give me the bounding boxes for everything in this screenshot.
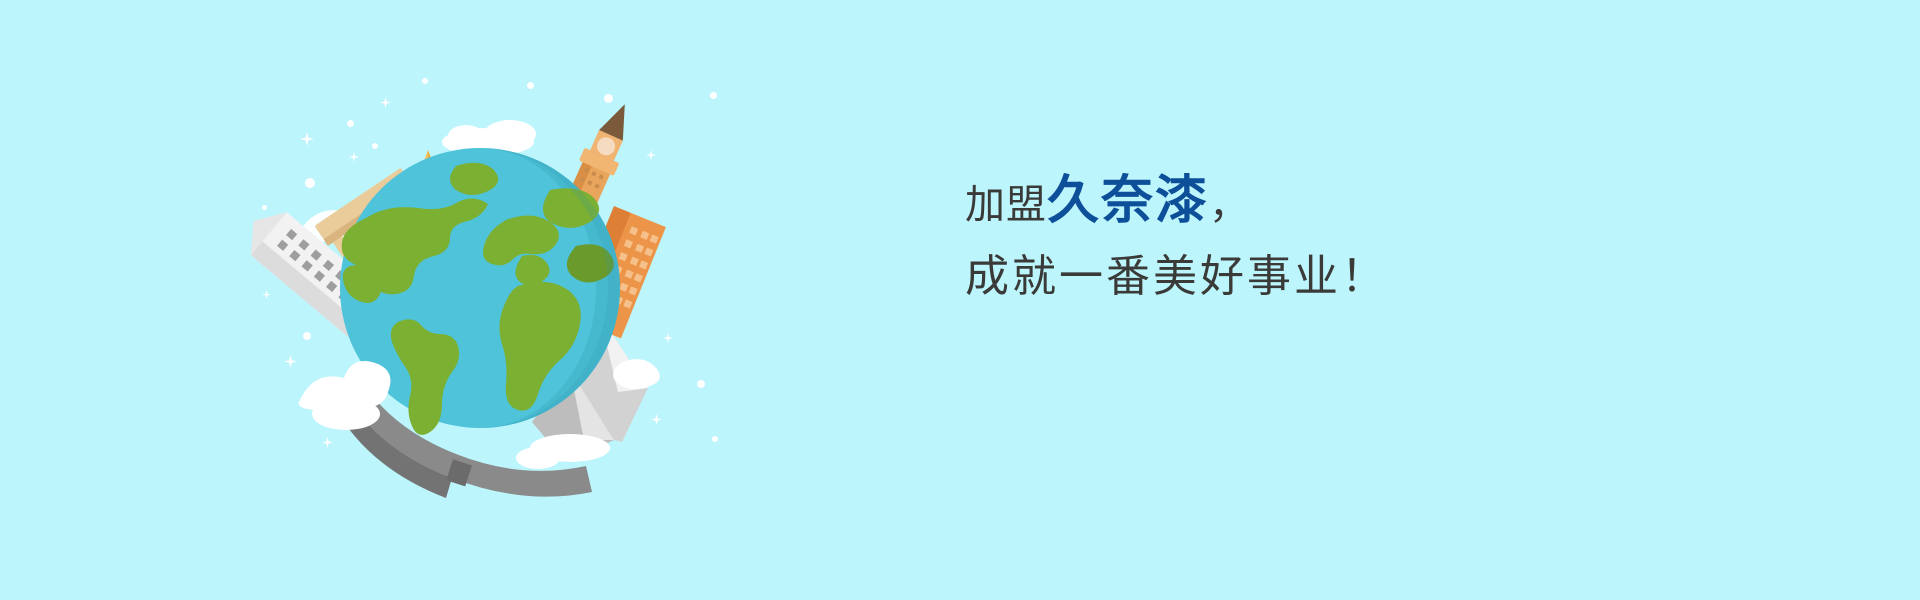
- headline-prefix: 加盟: [965, 182, 1047, 228]
- headline-block: 加盟久奈漆， 成就一番美好事业！: [965, 175, 1665, 299]
- headline-line-2: 成就一番美好事业！: [965, 253, 1665, 299]
- sparkle-dot: [262, 205, 267, 210]
- globe-illustration: [270, 70, 690, 490]
- sparkle-dot: [712, 436, 718, 442]
- headline-punctuation: ，: [1209, 182, 1249, 228]
- brand-name: 久奈漆: [1047, 171, 1209, 231]
- sparkle-dot: [710, 92, 717, 99]
- sparkle-dot: [697, 380, 705, 388]
- headline-line-1: 加盟久奈漆，: [965, 175, 1665, 227]
- promo-banner: 加盟久奈漆， 成就一番美好事业！: [0, 0, 1920, 600]
- headline-subtitle: 成就一番美好事业！: [965, 251, 1388, 302]
